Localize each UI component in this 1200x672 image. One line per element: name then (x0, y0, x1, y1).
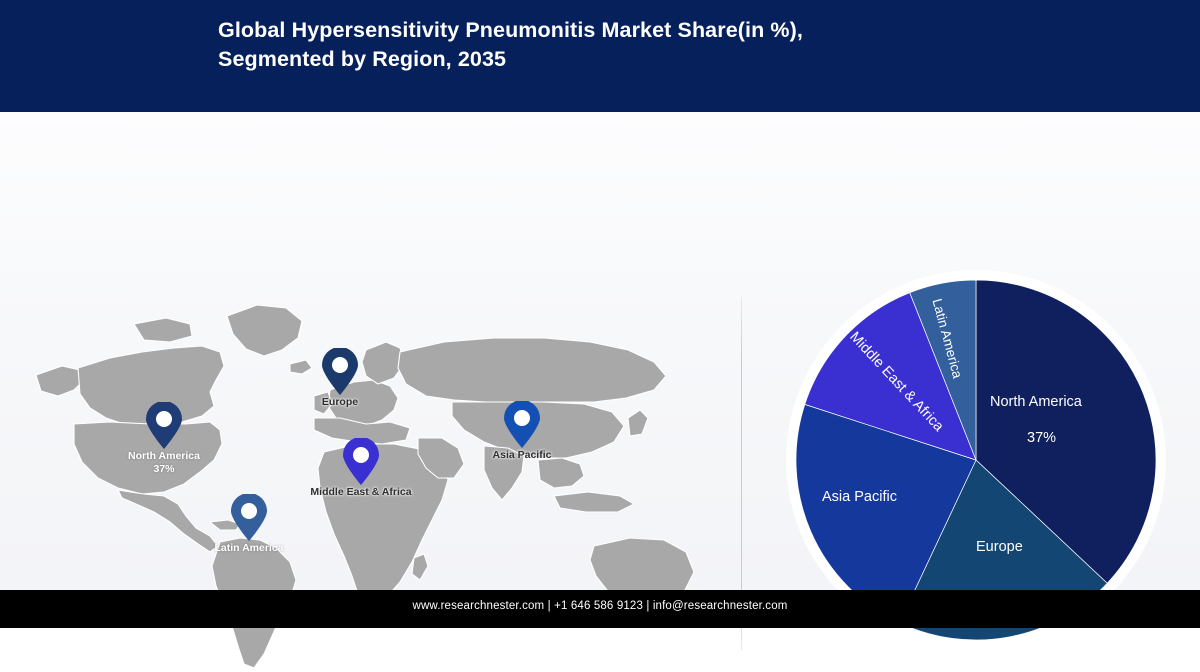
page-title-line2: Segmented by Region, 2035 (218, 45, 1118, 74)
header-banner: Global Hypersensitivity Pneumonitis Mark… (0, 0, 1200, 112)
landmass-arctic-isles (134, 318, 192, 342)
marker-region-name: North America (128, 450, 200, 462)
landmass-alaska (36, 366, 84, 396)
page-title-line1: Global Hypersensitivity Pneumonitis Mark… (218, 18, 803, 42)
footer-bar: www.researchnester.com | +1 646 586 9123… (0, 590, 1200, 628)
marker-region-name: Middle East & Africa (310, 486, 411, 498)
page-title: Global Hypersensitivity Pneumonitis Mark… (218, 16, 1118, 74)
landmass-iceland (290, 360, 312, 374)
map-marker-label-europe: Europe (260, 396, 420, 409)
map-pin-icon (342, 438, 380, 486)
marker-region-value: 37% (153, 463, 174, 475)
map-marker-label-north-america: North America 37% (84, 450, 244, 475)
landmass-southeast-asia (538, 458, 584, 488)
map-pin-icon (145, 402, 183, 450)
marker-region-name: Europe (322, 396, 358, 408)
infographic-page: Global Hypersensitivity Pneumonitis Mark… (0, 0, 1200, 628)
content-area: North America 37% Latin America (0, 112, 1200, 590)
landmass-japan (628, 410, 648, 436)
map-marker-label-asia-pacific: Asia Pacific (442, 449, 602, 462)
pie-slice-group (796, 280, 1156, 640)
landmass-madagascar (412, 554, 428, 580)
pie-label-north-america: North America (990, 394, 1082, 410)
pie-label-asia-pacific: Asia Pacific (822, 489, 897, 505)
landmass-russia (398, 338, 666, 402)
landmass-indonesia (554, 492, 634, 512)
map-marker-label-latin-america: Latin America (169, 542, 329, 555)
map-pin-icon (321, 348, 359, 396)
marker-region-name: Asia Pacific (493, 449, 552, 461)
marker-region-name: Latin America (214, 542, 283, 554)
pie-value-north-america: 37% (1027, 430, 1056, 446)
map-pin-icon (230, 494, 268, 542)
map-marker-label-middle-east-africa: Middle East & Africa (281, 486, 441, 499)
footer-contact-text: www.researchnester.com | +1 646 586 9123… (0, 600, 1200, 612)
landmass-scandinavia (362, 342, 404, 384)
map-pin-icon (503, 401, 541, 449)
landmass-greenland (227, 305, 302, 356)
pie-label-europe: Europe (976, 539, 1023, 555)
